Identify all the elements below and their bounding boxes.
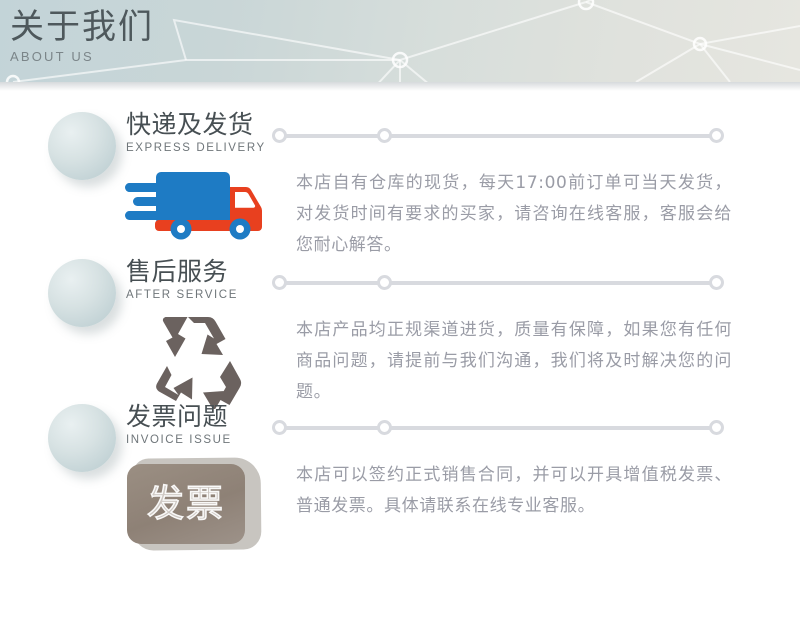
content-area: 快递及发货 EXPRESS DELIVERY bbox=[0, 82, 800, 632]
page-header: 关于我们 ABOUT US bbox=[0, 0, 800, 82]
divider-node bbox=[709, 275, 724, 290]
section-heading-group: 快递及发货 EXPRESS DELIVERY bbox=[126, 110, 266, 156]
divider-node bbox=[272, 420, 287, 435]
section-title-cn: 快递及发货 bbox=[126, 110, 266, 140]
divider-node bbox=[377, 275, 392, 290]
section-title-cn: 发票问题 bbox=[126, 402, 266, 432]
invoice-card-icon: 发票 bbox=[127, 458, 263, 550]
section-icon-slot: 发票 bbox=[120, 458, 270, 558]
decorative-orb bbox=[48, 404, 116, 472]
divider-rail bbox=[272, 128, 724, 144]
divider-node bbox=[272, 128, 287, 143]
section-title-en: EXPRESS DELIVERY bbox=[126, 141, 266, 156]
invoice-card-front: 发票 bbox=[127, 464, 245, 544]
section-title-en: INVOICE ISSUE bbox=[126, 433, 266, 448]
page-subtitle: ABOUT US bbox=[10, 49, 154, 65]
recycle-icon bbox=[143, 313, 247, 409]
divider-line bbox=[281, 281, 715, 285]
divider-line bbox=[281, 426, 715, 430]
section-icon-slot bbox=[120, 166, 270, 266]
section-title-cn: 售后服务 bbox=[126, 257, 266, 287]
divider-rail bbox=[272, 420, 724, 436]
section-body-text: 本店可以签约正式销售合同，并可以开具增值税发票、普通发票。具体请联系在线专业客服… bbox=[296, 460, 732, 522]
section-body-text: 本店产品均正规渠道进货，质量有保障，如果您有任何商品问题，请提前与我们沟通，我们… bbox=[296, 315, 732, 408]
section-title-en: AFTER SERVICE bbox=[126, 288, 266, 303]
divider-node bbox=[272, 275, 287, 290]
divider-node bbox=[709, 420, 724, 435]
invoice-card-label: 发票 bbox=[147, 484, 225, 524]
decorative-orb bbox=[48, 112, 116, 180]
divider-node bbox=[709, 128, 724, 143]
page-title: 关于我们 bbox=[10, 6, 154, 48]
divider-line bbox=[281, 134, 715, 138]
section-heading-group: 售后服务 AFTER SERVICE bbox=[126, 257, 266, 303]
section-heading-group: 发票问题 INVOICE ISSUE bbox=[126, 402, 266, 448]
section-body-text: 本店自有仓库的现货，每天17:00前订单可当天发货，对发货时间有要求的买家，请咨… bbox=[296, 168, 732, 261]
decorative-orb bbox=[48, 259, 116, 327]
header-title-group: 关于我们 ABOUT US bbox=[10, 6, 154, 65]
divider-node bbox=[377, 128, 392, 143]
delivery-truck-icon bbox=[125, 166, 265, 240]
divider-node bbox=[377, 420, 392, 435]
divider-rail bbox=[272, 275, 724, 291]
section-icon-slot bbox=[120, 313, 270, 413]
